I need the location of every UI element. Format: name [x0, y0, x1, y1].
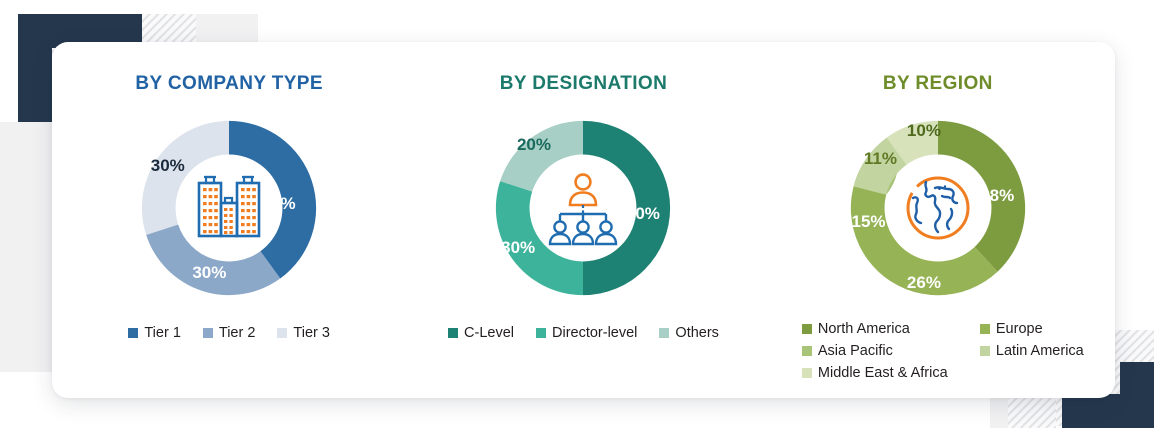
donut-label-europe: 26%	[907, 273, 941, 293]
legend-label-tier-3: Tier 3	[293, 325, 330, 341]
chart-panel-designation: BY DESIGNATION 50% 30% 20%	[406, 42, 760, 398]
legend-item-tier-3[interactable]: Tier 3	[277, 325, 330, 341]
legend-label-director-level: Director-level	[552, 325, 637, 341]
legend-company-type: Tier 1 Tier 2 Tier 3	[128, 325, 330, 341]
legend-swatch-tier-2	[203, 328, 213, 338]
donut-label-tier-2: 30%	[192, 263, 226, 283]
legend-label-north-america: North America	[818, 321, 910, 337]
legend-swatch-middle-east-africa	[802, 368, 812, 378]
chart-title-company-type: BY COMPANY TYPE	[135, 73, 323, 95]
legend-label-tier-1: Tier 1	[144, 325, 181, 341]
legend-item-others[interactable]: Others	[659, 325, 719, 341]
legend-item-europe[interactable]: Europe	[980, 321, 1084, 337]
legend-swatch-europe	[980, 324, 990, 334]
donut-label-others: 20%	[517, 135, 551, 155]
legend-item-c-level[interactable]: C-Level	[448, 325, 514, 341]
donut-label-middle-east-africa: 10%	[907, 121, 941, 141]
donut-chart-designation: 50% 30% 20%	[484, 109, 682, 307]
legend-designation: C-Level Director-level Others	[448, 325, 719, 341]
legend-swatch-tier-1	[128, 328, 138, 338]
chart-title-region: BY REGION	[883, 73, 993, 95]
legend-label-latin-america: Latin America	[996, 343, 1084, 359]
globe-icon	[895, 165, 981, 251]
legend-label-c-level: C-Level	[464, 325, 514, 341]
donut-chart-region: 38% 26% 15% 11% 10%	[839, 109, 1037, 307]
donut-chart-company-type: 40% 30% 30%	[130, 109, 328, 307]
chart-panel-region: BY REGION 38%	[761, 42, 1115, 398]
legend-label-tier-2: Tier 2	[219, 325, 256, 341]
charts-row: BY COMPANY TYPE 40% 30% 30%	[52, 42, 1115, 398]
legend-swatch-tier-3	[277, 328, 287, 338]
legend-label-europe: Europe	[996, 321, 1043, 337]
decor-gray-band-left	[0, 122, 52, 372]
legend-item-latin-america[interactable]: Latin America	[980, 343, 1084, 359]
donut-label-tier-3: 30%	[151, 156, 185, 176]
legend-item-tier-1[interactable]: Tier 1	[128, 325, 181, 341]
legend-item-middle-east-africa[interactable]: Middle East & Africa	[802, 365, 970, 381]
legend-item-north-america[interactable]: North America	[802, 321, 970, 337]
donut-label-director-level: 30%	[501, 238, 535, 258]
legend-label-asia-pacific: Asia Pacific	[818, 343, 893, 359]
donut-label-c-level: 50%	[626, 204, 660, 224]
office-buildings-icon	[186, 165, 272, 251]
legend-swatch-asia-pacific	[802, 346, 812, 356]
charts-card: BY COMPANY TYPE 40% 30% 30%	[52, 42, 1115, 398]
donut-label-asia-pacific: 15%	[851, 212, 885, 232]
legend-item-director-level[interactable]: Director-level	[536, 325, 637, 341]
decor-navy-corner-bottom-right-horizontal	[1062, 394, 1154, 428]
org-chart-people-icon	[540, 165, 626, 251]
legend-label-others: Others	[675, 325, 719, 341]
legend-swatch-latin-america	[980, 346, 990, 356]
chart-title-designation: BY DESIGNATION	[500, 73, 667, 95]
chart-panel-company-type: BY COMPANY TYPE 40% 30% 30%	[52, 42, 406, 398]
legend-label-middle-east-africa: Middle East & Africa	[818, 365, 948, 381]
legend-swatch-director-level	[536, 328, 546, 338]
legend-item-tier-2[interactable]: Tier 2	[203, 325, 256, 341]
donut-label-north-america: 38%	[980, 186, 1014, 206]
legend-swatch-c-level	[448, 328, 458, 338]
legend-region: North America Europe Asia Pacific Latin …	[792, 321, 1084, 381]
legend-swatch-others	[659, 328, 669, 338]
legend-item-asia-pacific[interactable]: Asia Pacific	[802, 343, 970, 359]
legend-swatch-north-america	[802, 324, 812, 334]
donut-label-latin-america: 11%	[864, 149, 897, 169]
